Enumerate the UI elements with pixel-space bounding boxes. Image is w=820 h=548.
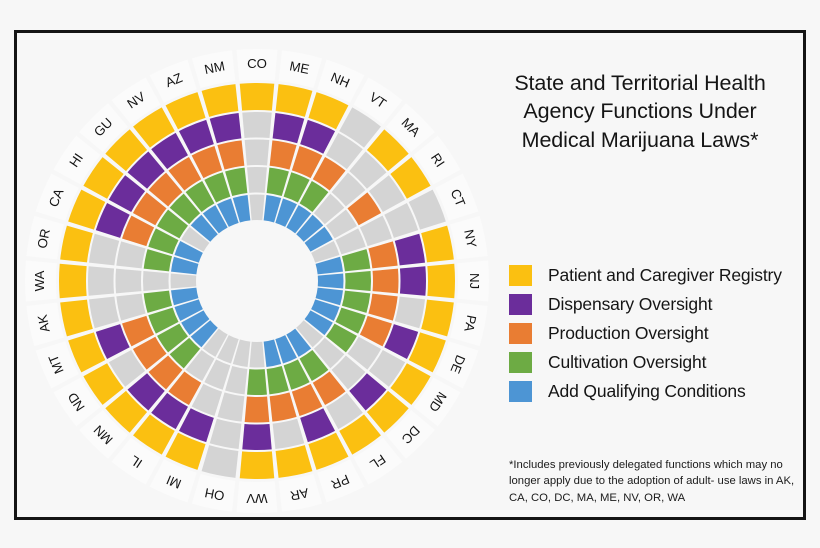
- cell-WA-production[interactable]: [116, 269, 142, 294]
- cell-WV-production[interactable]: [245, 397, 270, 423]
- legend-item-conditions: Add Qualifying Conditions: [509, 377, 809, 406]
- legend-swatch-dispensary: [509, 294, 532, 315]
- cell-NJ-production[interactable]: [373, 269, 399, 294]
- title-line-3: Medical Marijuana Laws*: [477, 126, 803, 154]
- right-panel: State and Territorial Health Agency Func…: [477, 33, 807, 523]
- legend-label-registry: Patient and Caregiver Registry: [548, 265, 782, 286]
- cell-OR-registry[interactable]: [60, 226, 93, 263]
- cell-AK-production[interactable]: [116, 294, 145, 321]
- radial-sunburst-chart: COMENHVTMARICTNYNJPADEMDDCFLPRARWVOHMIIL…: [17, 33, 497, 523]
- infographic-frame: COMENHVTMARICTNYNJPADEMDDCFLPRARWVOHMIIL…: [14, 30, 806, 520]
- cell-NM-dispensary[interactable]: [210, 113, 242, 143]
- cell-AK-registry[interactable]: [60, 300, 93, 337]
- cell-OR-dispensary[interactable]: [89, 234, 119, 266]
- title-line-1: State and Territorial Health: [477, 69, 803, 97]
- chart-title: State and Territorial Health Agency Func…: [477, 69, 803, 154]
- legend-label-production: Production Oversight: [548, 323, 708, 344]
- cell-OH-dispensary[interactable]: [210, 419, 242, 449]
- cell-PA-dispensary[interactable]: [395, 297, 425, 329]
- legend-item-production: Production Oversight: [509, 319, 809, 348]
- cell-AR-dispensary[interactable]: [273, 419, 305, 449]
- cell-AR-production[interactable]: [270, 392, 297, 421]
- cell-ME-registry[interactable]: [276, 84, 313, 117]
- cell-OR-production[interactable]: [116, 241, 145, 268]
- cell-NM-production[interactable]: [217, 140, 244, 169]
- footnote-line-1: *Includes previously delegated functions…: [509, 459, 743, 471]
- cell-CO-cultivation[interactable]: [247, 167, 267, 193]
- state-label-WV: WV: [246, 491, 267, 506]
- sector-group: [59, 83, 455, 479]
- cell-NY-dispensary[interactable]: [395, 234, 425, 266]
- legend-swatch-cultivation: [509, 352, 532, 373]
- legend-label-conditions: Add Qualifying Conditions: [548, 381, 746, 402]
- cell-OH-production[interactable]: [217, 392, 244, 421]
- legend-item-dispensary: Dispensary Oversight: [509, 290, 809, 319]
- state-label-CO: CO: [247, 56, 267, 71]
- radial-chart-area: COMENHVTMARICTNYNJPADEMDDCFLPRARWVOHMIIL…: [17, 33, 497, 523]
- cell-CO-production[interactable]: [245, 140, 270, 166]
- cell-OH-registry[interactable]: [202, 445, 239, 478]
- chart-legend: Patient and Caregiver RegistryDispensary…: [509, 261, 809, 406]
- cell-CO-conditions[interactable]: [249, 195, 264, 221]
- cell-PA-production[interactable]: [368, 294, 397, 321]
- legend-label-dispensary: Dispensary Oversight: [548, 294, 712, 315]
- cell-NJ-cultivation[interactable]: [345, 271, 371, 291]
- cell-NY-production[interactable]: [368, 241, 397, 268]
- cell-ME-production[interactable]: [270, 140, 297, 169]
- chart-footnote: *Includes previously delegated functions…: [509, 457, 799, 506]
- cell-NJ-dispensary[interactable]: [400, 266, 426, 295]
- cell-ME-dispensary[interactable]: [273, 113, 305, 143]
- cell-WV-dispensary[interactable]: [242, 424, 271, 450]
- state-label-WA: WA: [32, 270, 47, 291]
- cell-AR-registry[interactable]: [276, 445, 313, 478]
- cell-WV-registry[interactable]: [240, 451, 275, 479]
- title-line-2: Agency Functions Under: [477, 97, 803, 125]
- cell-NJ-conditions[interactable]: [318, 273, 344, 288]
- cell-WV-conditions[interactable]: [249, 342, 264, 368]
- legend-label-cultivation: Cultivation Oversight: [548, 352, 706, 373]
- legend-item-cultivation: Cultivation Oversight: [509, 348, 809, 377]
- legend-swatch-registry: [509, 265, 532, 286]
- cell-WV-cultivation[interactable]: [247, 369, 267, 395]
- cell-NY-registry[interactable]: [421, 226, 454, 263]
- cell-NM-registry[interactable]: [202, 84, 239, 117]
- cell-WA-conditions[interactable]: [171, 273, 197, 288]
- cell-WA-dispensary[interactable]: [88, 266, 114, 295]
- legend-swatch-conditions: [509, 381, 532, 402]
- cell-NJ-registry[interactable]: [427, 264, 455, 299]
- legend-item-registry: Patient and Caregiver Registry: [509, 261, 809, 290]
- legend-swatch-production: [509, 323, 532, 344]
- cell-PA-registry[interactable]: [421, 300, 454, 337]
- cell-CO-registry[interactable]: [240, 83, 275, 111]
- cell-WA-registry[interactable]: [59, 264, 87, 299]
- cell-WA-cultivation[interactable]: [143, 271, 169, 291]
- cell-AK-dispensary[interactable]: [89, 297, 119, 329]
- cell-CO-dispensary[interactable]: [242, 112, 271, 138]
